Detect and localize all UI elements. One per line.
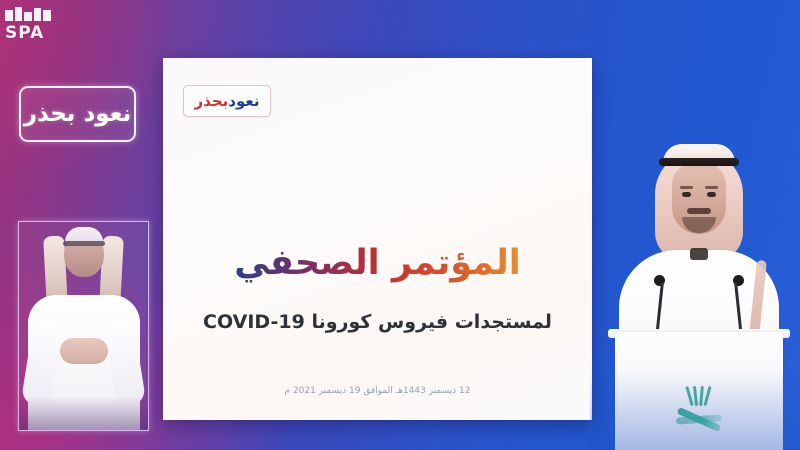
- speaker-eye-right: [707, 192, 716, 197]
- slide-campaign-logo-text: نعودبحذر: [195, 94, 260, 109]
- spa-logo-letters: SPA: [5, 24, 51, 43]
- speaker-collar: [690, 248, 708, 260]
- podium: [615, 332, 783, 450]
- slide-subtitle: لمستجدات فيروس كورونا COVID-19: [163, 310, 592, 334]
- presentation-slide: نعودبحذر المؤتمر الصحفي لمستجدات فيروس ك…: [163, 58, 592, 420]
- campaign-badge: نعود بحذر: [19, 86, 136, 142]
- speaker-moustache: [687, 208, 711, 214]
- speaker-eye-left: [682, 192, 691, 197]
- speaker-igal-cord: [659, 158, 739, 166]
- slide-title: المؤتمر الصحفي: [163, 243, 592, 283]
- interpreter-hands: [60, 338, 108, 364]
- speaker-face: [672, 162, 726, 234]
- slide-campaign-logo: نعودبحذر: [183, 85, 271, 117]
- slide-logo-part-blue: نعود: [228, 92, 259, 110]
- slide-date-line: 12 ديسمبر 1443هـ الموافق 19 ديسمبر 2021 …: [163, 385, 592, 397]
- saudi-emblem-icon: [667, 384, 731, 442]
- palm-tree-icon: [687, 384, 711, 406]
- spokesperson-at-podium: [598, 120, 800, 450]
- broadcast-frame: SPA نعود بحذر نعودبحذر المؤتمر الصحفي لم…: [0, 0, 800, 450]
- slide-logo-part-red: بحذر: [195, 92, 229, 110]
- spa-channel-logo: SPA: [5, 6, 51, 44]
- speaker-beard: [682, 217, 716, 233]
- campaign-badge-text: نعود بحذر: [24, 101, 132, 127]
- sign-language-interpreter-inset: [18, 221, 149, 431]
- interpreter-figure: [19, 222, 148, 430]
- spa-arabic-mark-icon: [5, 6, 51, 21]
- speaker-brow-right: [705, 186, 718, 189]
- interpreter-shadow: [19, 396, 148, 430]
- speaker-brow-left: [680, 186, 693, 189]
- interpreter-headband: [63, 241, 105, 246]
